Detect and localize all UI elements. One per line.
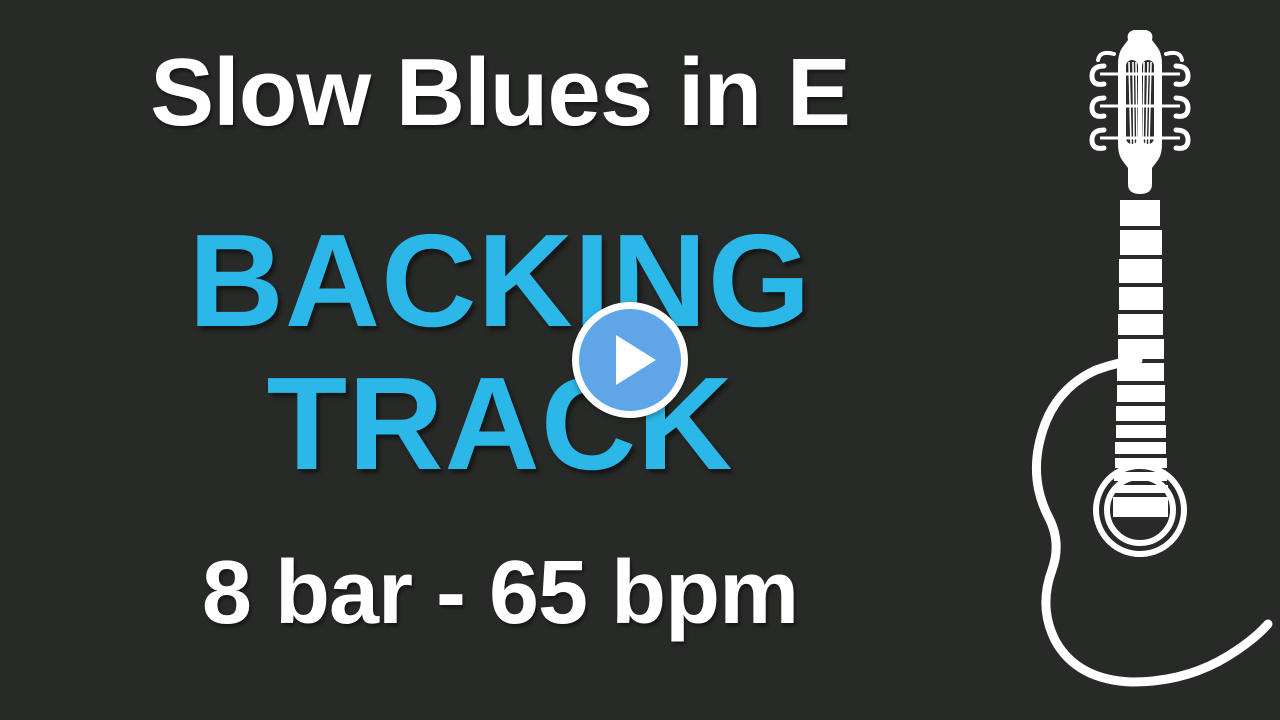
headline-track: TRACK [0, 358, 1000, 490]
guitar-upper-bout [1096, 360, 1138, 370]
tuning-pegs-right [1176, 66, 1188, 148]
guitar-body-outline [1036, 370, 1268, 682]
tuning-pegs-left [1092, 66, 1104, 148]
guitar-fretboard [1113, 200, 1168, 517]
sound-hole-outer-ring [1096, 466, 1184, 554]
tuner-shafts [1100, 74, 1180, 138]
fret-block [1116, 425, 1166, 438]
tuner-curl-detail [1098, 53, 1182, 60]
play-button[interactable] [572, 302, 688, 418]
page-title: Slow Blues in E [0, 45, 1000, 141]
fret-block [1116, 406, 1165, 421]
fret-block [1114, 485, 1168, 493]
headstock-slot-right [1142, 60, 1154, 144]
fret-block [1118, 314, 1163, 335]
fret-block [1114, 472, 1167, 481]
fret-block [1120, 230, 1162, 255]
fret-block [1117, 363, 1164, 381]
fret-block [1117, 385, 1165, 402]
headstock-slot-left [1126, 60, 1138, 144]
acoustic-guitar-icon [1000, 18, 1280, 688]
fret-block [1119, 259, 1162, 283]
guitar-headstock-group [1092, 30, 1188, 194]
fret-block [1113, 497, 1168, 517]
fret-block [1118, 339, 1164, 359]
sound-hole [1096, 466, 1184, 554]
text-column: Slow Blues in E BACKING TRACK 8 bar - 65… [0, 0, 1000, 720]
fret-block [1119, 287, 1163, 310]
headstock-strings [1129, 62, 1151, 144]
thumbnail-canvas: Slow Blues in E BACKING TRACK 8 bar - 65… [0, 0, 1280, 720]
fret-block [1115, 458, 1167, 468]
fret-block [1115, 442, 1166, 454]
play-icon [616, 335, 656, 385]
headstock-plate [1118, 30, 1162, 194]
headline-backing: BACKING [0, 215, 1000, 347]
fret-block [1120, 200, 1160, 226]
sound-hole-inner-ring [1107, 477, 1173, 543]
subtitle-bars-bpm: 8 bar - 65 bpm [0, 548, 1000, 638]
